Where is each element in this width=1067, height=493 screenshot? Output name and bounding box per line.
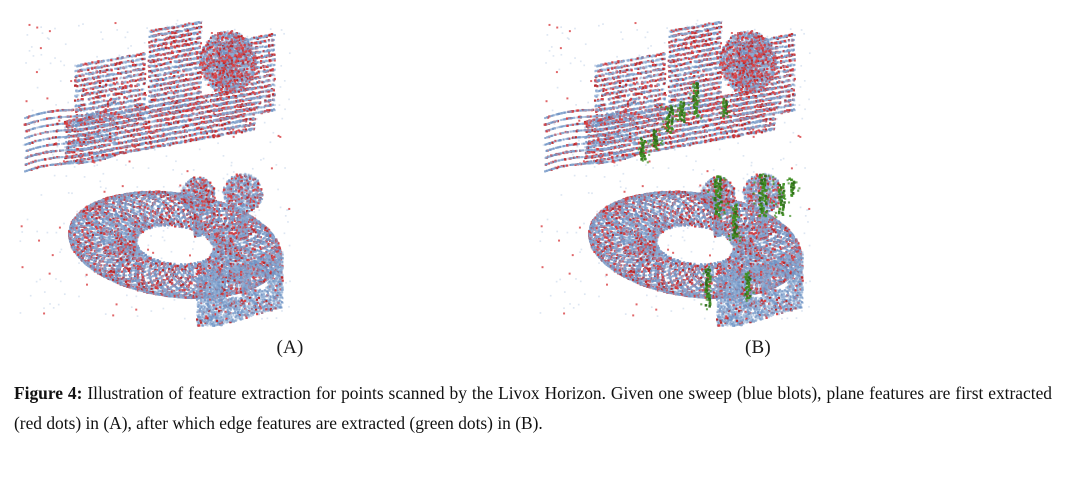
point-cloud-canvas-b bbox=[520, 0, 1053, 330]
point-cloud-canvas-a bbox=[0, 0, 533, 330]
panel-b-point-cloud bbox=[520, 0, 1053, 330]
panel-a-point-cloud bbox=[0, 0, 533, 330]
subfigure-labels: (A) (B) bbox=[0, 332, 1067, 368]
figure-panels bbox=[0, 0, 1067, 330]
figure-caption-text: Illustration of feature extraction for p… bbox=[14, 383, 1052, 433]
subfigure-label-b: (B) bbox=[668, 332, 848, 364]
figure-root: (A) (B) Figure 4: Illustration of featur… bbox=[0, 0, 1067, 493]
subfigure-label-a: (A) bbox=[200, 332, 380, 364]
figure-caption-label: Figure 4: bbox=[14, 383, 82, 403]
figure-caption: Figure 4: Illustration of feature extrac… bbox=[14, 378, 1052, 438]
